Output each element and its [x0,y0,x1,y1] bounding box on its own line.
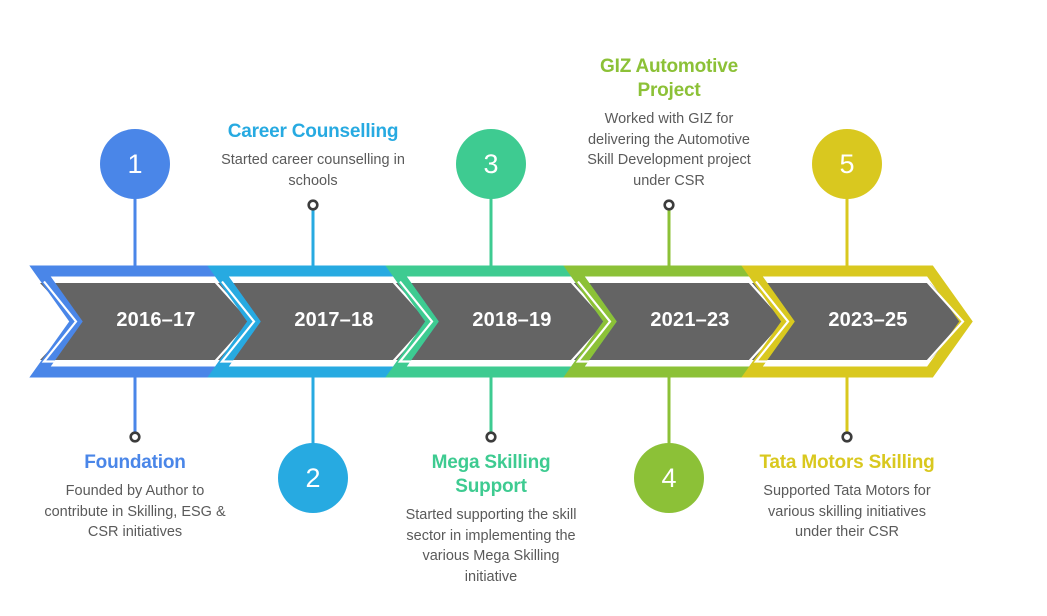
timeline-band-group [40,283,966,360]
label-ring-marker-2 [309,201,318,210]
number-circle-2[interactable] [278,443,348,513]
timeline-infographic: 12016–17FoundationFounded by Author to c… [0,0,1047,616]
number-circle-1[interactable] [100,129,170,199]
label-ring-marker-4 [665,201,674,210]
number-circle-4[interactable] [634,443,704,513]
label-ring-marker-5 [843,433,852,442]
number-circle-5[interactable] [812,129,882,199]
timeline-band [40,283,966,360]
label-ring-marker-3 [487,433,496,442]
timeline-graphic [0,0,1047,616]
number-circle-3[interactable] [456,129,526,199]
label-ring-marker-1 [131,433,140,442]
